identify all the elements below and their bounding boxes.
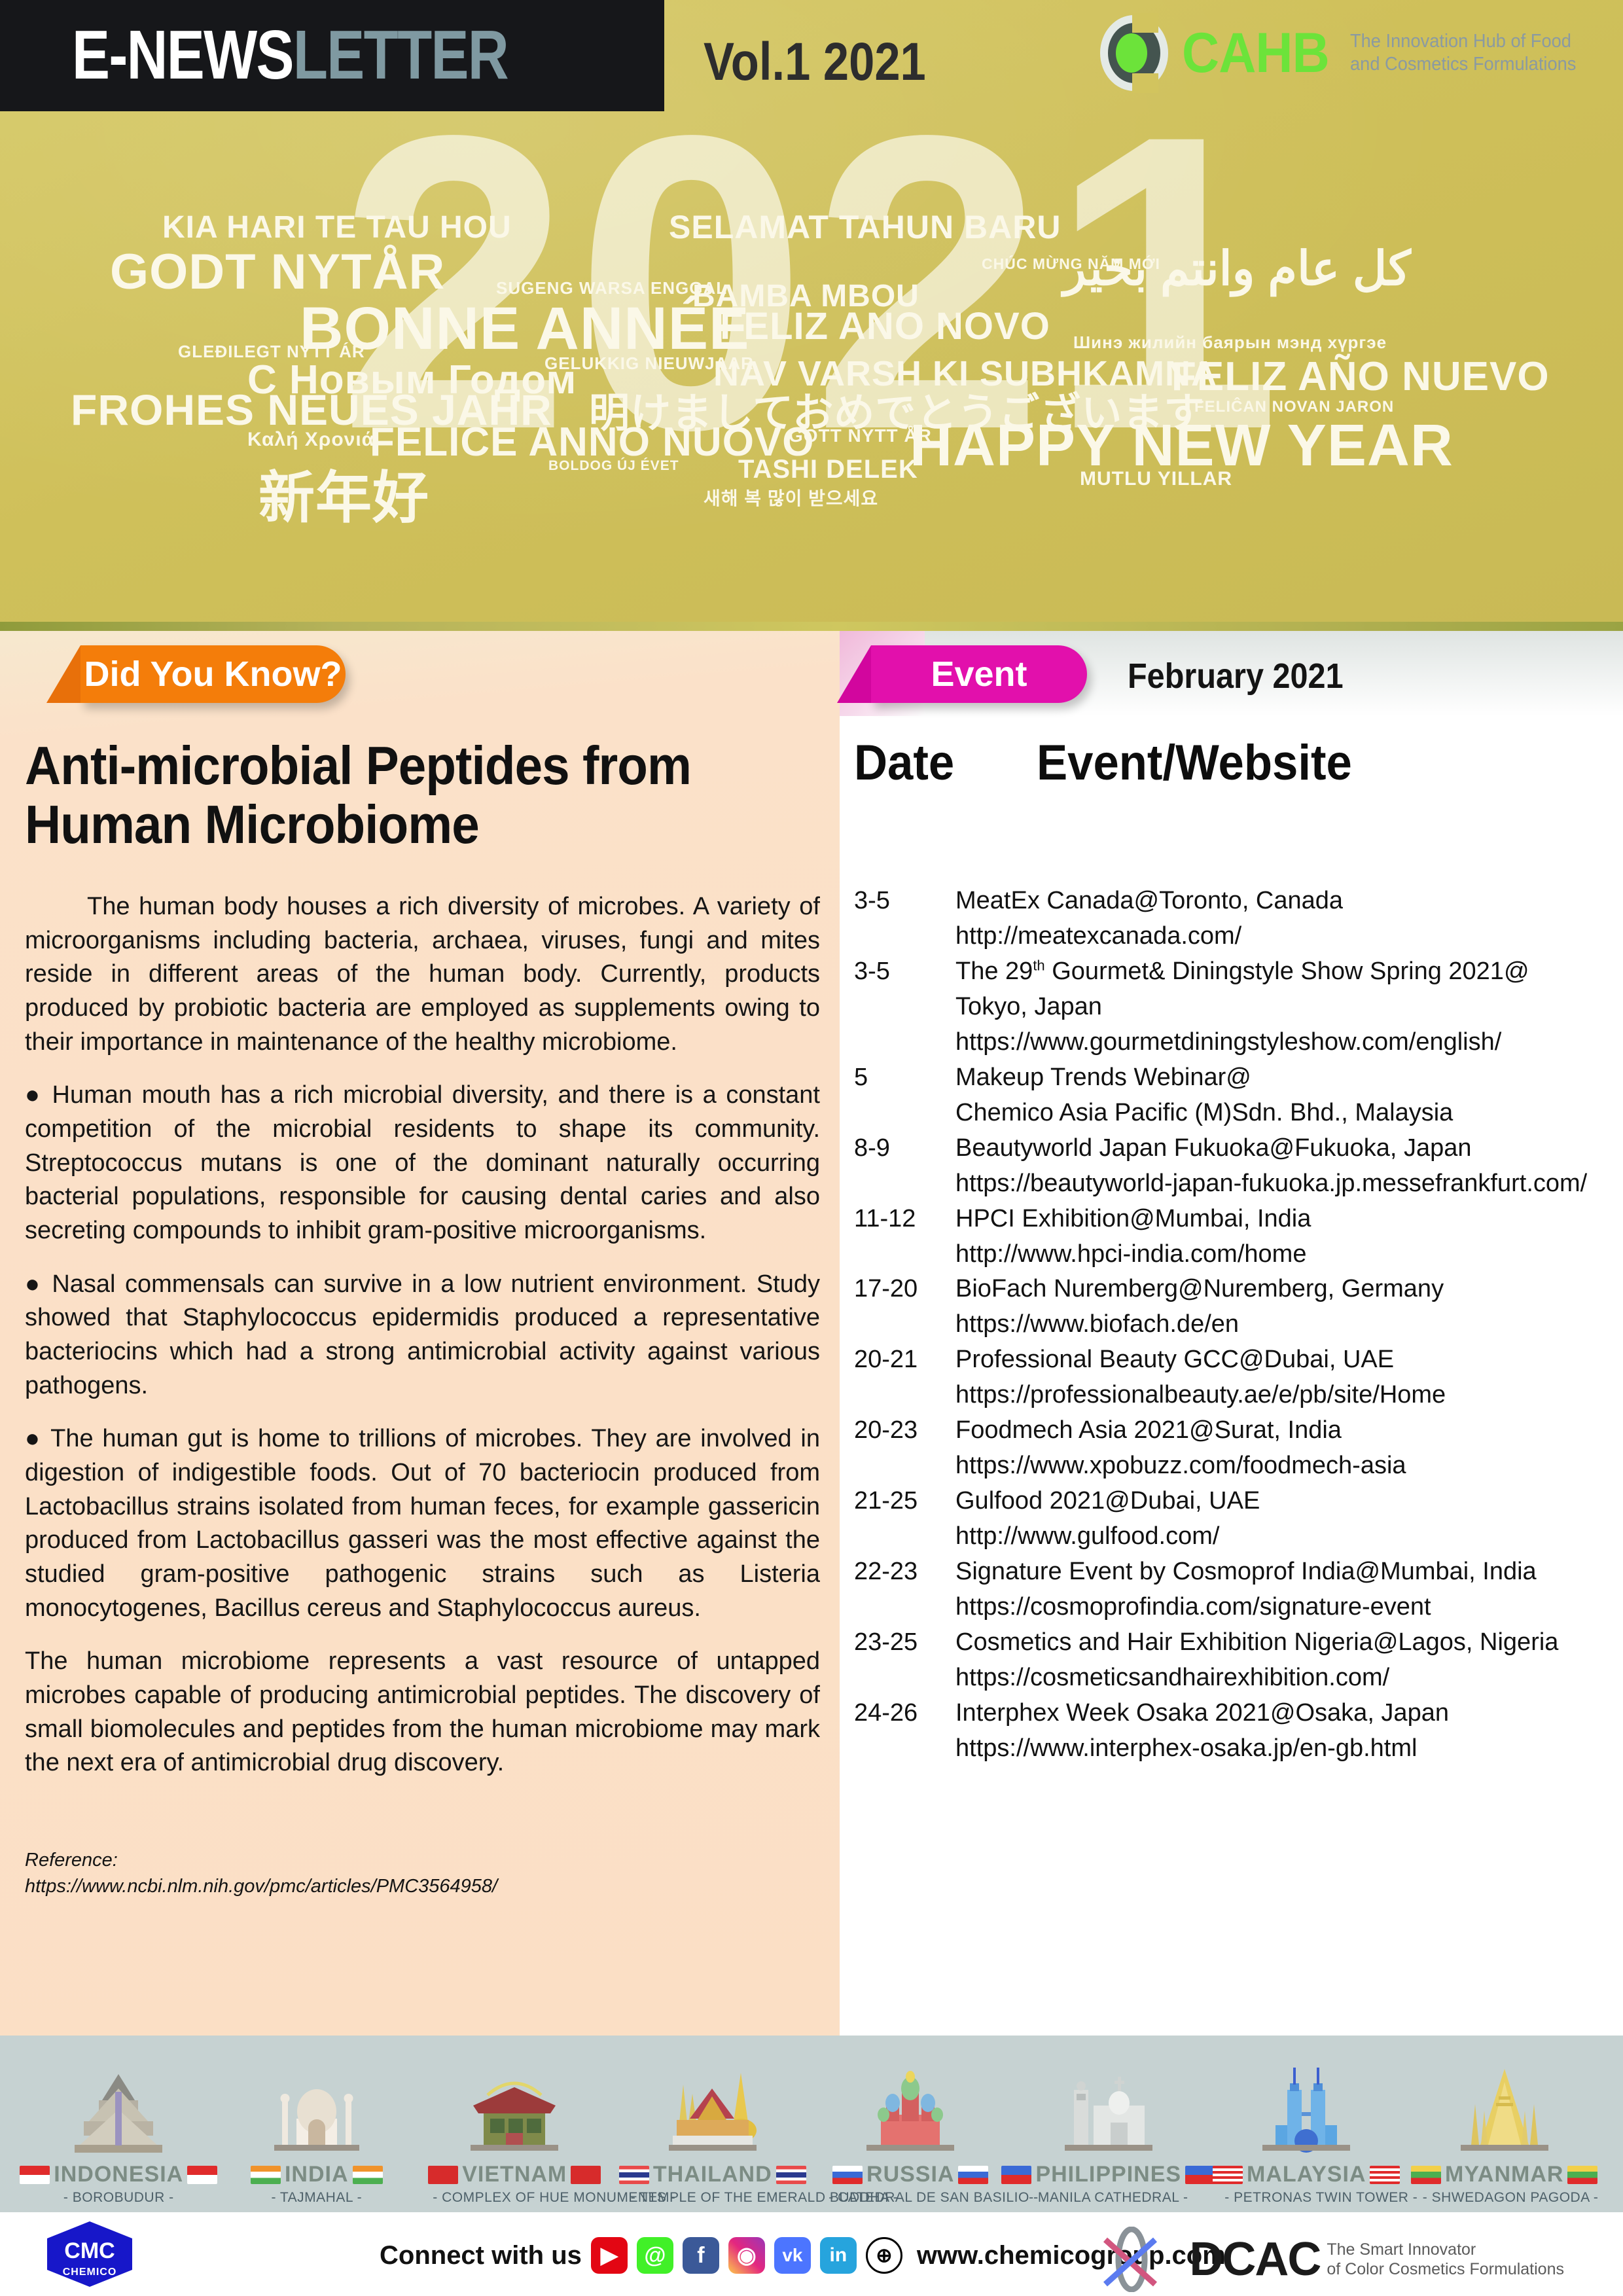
event-date: 8-9 [854,1131,955,1166]
landmark-country-label: THAILAND [653,2162,772,2187]
event-url[interactable]: http://www.hpci-india.com/home [955,1237,1613,1272]
event-name: Chemico Asia Pacific (M)Sdn. Bhd., Malay… [955,1096,1613,1131]
volume-label: Vol.1 2021 [704,31,926,93]
landmark-country: VIETNAM [433,2162,596,2187]
landmark-country-label: INDONESIA [54,2162,183,2187]
event-detail: Cosmetics and Hair Exhibition Nigeria@La… [955,1625,1613,1696]
event-row: 5Makeup Trends Webinar@Chemico Asia Paci… [854,1060,1613,1131]
landmark-monument: - COMPLEX OF HUE MONUMENTS - [433,2190,596,2206]
flag-indonesia [187,2166,217,2184]
event-row: 21-25Gulfood 2021@Dubai, UAEhttp://www.g… [854,1484,1613,1554]
landmark-item: PHILIPPINES- MANILA CATHEDRAL - [1027,2049,1190,2206]
column-header-event: Event/Website [1037,735,1352,791]
greeting-text: Καλή Χρονιά [247,429,374,451]
landmark-monument: - SHWEDAGON PAGODA - [1423,2190,1586,2206]
event-detail: BioFach Nuremberg@Nuremberg, Germanyhttp… [955,1272,1613,1342]
landmark-illustration [1224,2049,1388,2161]
landmark-country-label: RUSSIA [866,2162,954,2187]
title-part-enews: E-NEWS [72,16,293,94]
masthead-banner: 2021 KIA HARI TE TAU HOUSELAMAT TAHUN BA… [0,0,1623,622]
event-detail: Interphex Week Osaka 2021@Osaka, Japanht… [955,1696,1613,1767]
cahb-tagline: The Innovation Hub of Food and Cosmetics… [1350,30,1576,77]
title-part-letter: LETTER [293,16,508,94]
event-row: 11-12HPCI Exhibition@Mumbai, Indiahttp:/… [854,1202,1613,1272]
landmark-illustration [1027,2049,1190,2161]
greeting-text: KIA HARI TE TAU HOU [162,209,512,245]
event-name: BioFach Nuremberg@Nuremberg, Germany [955,1272,1613,1307]
connect-label: Connect with us [380,2241,582,2270]
page-title: E-NEWSLETTER [72,16,508,95]
event-row: 8-9Beautyworld Japan Fukuoka@Fukuoka, Ja… [854,1131,1613,1202]
landmark-illustration [235,2049,399,2161]
event-url[interactable]: https://professionalbeauty.ae/e/pb/site/… [955,1378,1613,1413]
youtube-icon[interactable]: ▶ [591,2237,628,2274]
landmark-country: PHILIPPINES [1027,2162,1190,2187]
flag-indonesia [20,2166,50,2184]
event-name: Tokyo, Japan [955,990,1613,1025]
landmark-monument: - TAJMAHAL - [235,2190,399,2206]
landmark-monument: - TEMPLE OF THE EMERALD BUDDHA - [631,2190,794,2206]
event-detail: Signature Event by Cosmoprof India@Mumba… [955,1554,1613,1625]
event-row: 24-26Interphex Week Osaka 2021@Osaka, Ja… [854,1696,1613,1767]
cahb-wordmark: CAHB [1182,25,1329,81]
event-row: 3-5The 29th Gourmet& Diningstyle Show Sp… [854,954,1613,1060]
reference-url[interactable]: https://www.ncbi.nlm.nih.gov/pmc/article… [25,1873,810,1899]
greeting-text: BOLDOG ÚJ ÉVET [548,458,679,474]
landmark-illustration [37,2049,200,2161]
event-name: MeatEx Canada@Toronto, Canada [955,884,1613,919]
landmark-country-label: PHILIPPINES [1035,2162,1181,2187]
flag-russia [958,2166,988,2184]
landmark-monument: - PETRONAS TWIN TOWER - [1224,2190,1388,2206]
event-url[interactable]: http://meatexcanada.com/ [955,919,1613,954]
event-name: Foodmech Asia 2021@Surat, India [955,1413,1613,1448]
event-url[interactable]: https://www.biofach.de/en [955,1307,1613,1342]
greeting-text: 새해 복 많이 받으세요 [704,484,878,511]
landmark-item: VIETNAM- COMPLEX OF HUE MONUMENTS - [433,2049,596,2206]
greeting-text: MUTLU YILLAR [1080,468,1232,490]
article-paragraph: The human microbiome represents a vast r… [25,1645,820,1780]
flag-vietnam [428,2166,458,2184]
flag-philippines [1001,2166,1031,2184]
landmark-illustration [1423,2049,1586,2161]
event-name: Makeup Trends Webinar@ [955,1060,1613,1096]
landmark-country: THAILAND [631,2162,794,2187]
linkedin-icon[interactable]: in [820,2237,857,2274]
event-detail: The 29th Gourmet& Diningstyle Show Sprin… [955,954,1613,1060]
event-tab[interactable]: Event [871,645,1087,703]
cahb-tagline-line1: The Innovation Hub of Food [1350,30,1576,53]
cahb-tagline-line2: and Cosmetics Formulations [1350,53,1576,76]
event-row: 22-23Signature Event by Cosmoprof India@… [854,1554,1613,1625]
landmark-item: MALAYSIA- PETRONAS TWIN TOWER - [1224,2049,1388,2206]
landmark-monument: - MANILA CATHEDRAL - [1027,2190,1190,2206]
event-name: The 29th Gourmet& Diningstyle Show Sprin… [955,954,1613,990]
landmark-strip: INDONESIA- BOROBUDUR -INDIA- TAJMAHAL -V… [0,2036,1623,2212]
dcac-logo: DCAC The Smart Innovator of Color Cosmet… [1084,2227,1564,2292]
event-name: Signature Event by Cosmoprof India@Mumba… [955,1554,1613,1590]
article-paragraph: ● Human mouth has a rich microbial diver… [25,1079,820,1247]
landmark-monument: - CATEDRAL DE SAN BASILIO - [829,2190,992,2206]
event-table-header: DateEvent/Website [854,734,1352,791]
event-name: HPCI Exhibition@Mumbai, India [955,1202,1613,1237]
flag-vietnam [571,2166,601,2184]
greeting-text: GODT NYTÅR [110,243,445,300]
landmark-item: MYANMAR- SHWEDAGON PAGODA - [1423,2049,1586,2206]
dcac-mark-icon [1084,2227,1183,2292]
landmark-item: INDIA- TAJMAHAL - [235,2049,399,2206]
article-title: Anti-microbial Peptides from Human Micro… [25,736,747,853]
landmark-country: INDONESIA [37,2162,200,2187]
event-url[interactable]: https://www.interphex-osaka.jp/en-gb.htm… [955,1731,1613,1767]
event-date: 5 [854,1060,955,1096]
event-detail: HPCI Exhibition@Mumbai, Indiahttp://www.… [955,1202,1613,1272]
article-paragraph: ● Nasal commensals can survive in a low … [25,1268,820,1403]
flag-thailand [619,2166,649,2184]
landmark-country: INDIA [235,2162,399,2187]
event-detail: Gulfood 2021@Dubai, UAEhttp://www.gulfoo… [955,1484,1613,1554]
event-list: 3-5MeatEx Canada@Toronto, Canadahttp://m… [854,884,1613,1767]
landmark-country-label: MALAYSIA [1247,2162,1366,2187]
event-date: 22-23 [854,1554,955,1590]
event-name: Beautyworld Japan Fukuoka@Fukuoka, Japan [955,1131,1613,1166]
did-you-know-column: Did You Know? Anti-microbial Peptides fr… [0,622,840,2036]
event-detail: Foodmech Asia 2021@Surat, Indiahttps://w… [955,1413,1613,1484]
facebook-icon[interactable]: f [683,2237,719,2274]
event-detail: MeatEx Canada@Toronto, Canadahttp://meat… [955,884,1613,954]
greeting-text: SELAMAT TAHUN BARU [669,208,1061,246]
dcac-tagline-line2: of Color Cosmetics Formulations [1327,2259,1564,2279]
event-name: Cosmetics and Hair Exhibition Nigeria@La… [955,1625,1613,1660]
landmark-illustration [829,2049,992,2161]
event-detail: Beautyworld Japan Fukuoka@Fukuoka, Japan… [955,1131,1613,1202]
event-url[interactable]: https://www.gourmetdiningstyleshow.com/e… [955,1025,1613,1060]
dcac-tagline-line1: The Smart Innovator [1327,2240,1564,2259]
dcac-wordmark: DCAC [1189,2233,1320,2286]
event-date: 23-25 [854,1625,955,1660]
article-paragraph: ● The human gut is home to trillions of … [25,1422,820,1625]
landmark-item: INDONESIA- BOROBUDUR - [37,2049,200,2206]
landmark-country: MALAYSIA [1224,2162,1388,2187]
event-detail: Makeup Trends Webinar@Chemico Asia Pacif… [955,1060,1613,1131]
greeting-text: FELIZ ANO NOVO [720,304,1050,348]
footer-bar: CMC CHEMICO Connect with us ▶ @ f ◉ vk i… [0,2212,1623,2296]
vk-icon[interactable]: vk [774,2237,811,2274]
event-row: 3-5MeatEx Canada@Toronto, Canadahttp://m… [854,884,1613,954]
globe-icon[interactable]: ⊕ [866,2237,902,2274]
landmark-country: MYANMAR [1423,2162,1586,2187]
flag-myanmar [1567,2166,1597,2184]
column-header-date: Date [854,734,1037,791]
instagram-icon[interactable]: ◉ [728,2237,765,2274]
svg-text:CHEMICO: CHEMICO [63,2267,117,2278]
event-date: 17-20 [854,1272,955,1307]
cahb-circle-icon [1094,13,1174,93]
flag-thailand [776,2166,806,2184]
flag-malaysia [1213,2166,1243,2184]
event-date: 11-12 [854,1202,955,1237]
flag-russia [832,2166,863,2184]
event-url[interactable]: https://www.xpobuzz.com/foodmech-asia [955,1448,1613,1484]
svg-text:CMC: CMC [64,2238,115,2263]
event-column: Event February 2021 DateEvent/Website 3-… [840,622,1623,2036]
landmark-country-label: MYANMAR [1445,2162,1563,2187]
landmark-country-label: VIETNAM [462,2162,567,2187]
greeting-text: Шинэ жилийн баярын мэнд хүргэе [1073,332,1387,353]
landmark-item: RUSSIA- CATEDRAL DE SAN BASILIO - [829,2049,992,2206]
event-month-label: February 2021 [1128,656,1344,696]
landmark-country-label: INDIA [285,2162,349,2187]
event-date: 24-26 [854,1696,955,1731]
flag-philippines [1185,2166,1215,2184]
event-url[interactable]: https://cosmoprofindia.com/signature-eve… [955,1590,1613,1625]
reference-block: Reference: https://www.ncbi.nlm.nih.gov/… [25,1847,810,1899]
landmark-illustration [631,2049,794,2161]
flag-india [251,2166,281,2184]
landmark-monument: - BOROBUDUR - [37,2190,200,2206]
cahb-logo: CAHB The Innovation Hub of Food and Cosm… [1094,13,1590,93]
event-name: Gulfood 2021@Dubai, UAE [955,1484,1613,1519]
article-body: The human body houses a rich diversity o… [25,890,820,1800]
landmark-country: RUSSIA [829,2162,992,2187]
event-url[interactable]: https://beautyworld-japan-fukuoka.jp.mes… [955,1166,1613,1202]
event-name: Interphex Week Osaka 2021@Osaka, Japan [955,1696,1613,1731]
event-url[interactable]: https://cosmeticsandhairexhibition.com/ [955,1660,1613,1696]
event-date: 21-25 [854,1484,955,1519]
flag-malaysia [1370,2166,1400,2184]
content-area: Did You Know? Anti-microbial Peptides fr… [0,622,1623,2036]
event-name: Professional Beauty GCC@Dubai, UAE [955,1342,1613,1378]
event-row: 23-25Cosmetics and Hair Exhibition Niger… [854,1625,1613,1696]
did-you-know-tab[interactable]: Did You Know? [80,645,346,703]
event-date: 3-5 [854,884,955,919]
article-paragraph: The human body houses a rich diversity o… [25,890,820,1059]
flag-myanmar [1411,2166,1441,2184]
greeting-text: 新年好 [259,452,429,533]
event-date: 3-5 [854,954,955,990]
landmark-item: THAILAND- TEMPLE OF THE EMERALD BUDDHA - [631,2049,794,2206]
event-row: 20-23Foodmech Asia 2021@Surat, Indiahttp… [854,1413,1613,1484]
event-row: 17-20BioFach Nuremberg@Nuremberg, German… [854,1272,1613,1342]
chemico-logo: CMC CHEMICO [41,2220,139,2288]
greeting-text: كل عام وانتم بخير [1063,241,1411,296]
event-url[interactable]: http://www.gulfood.com/ [955,1519,1613,1554]
event-detail: Professional Beauty GCC@Dubai, UAEhttps:… [955,1342,1613,1413]
event-row: 20-21Professional Beauty GCC@Dubai, UAEh… [854,1342,1613,1413]
greeting-text: FELIZ AÑO NUEVO [1171,353,1550,400]
reference-label: Reference: [25,1847,810,1873]
event-date: 20-21 [854,1342,955,1378]
email-icon[interactable]: @ [637,2237,673,2274]
event-date: 20-23 [854,1413,955,1448]
dcac-tagline: The Smart Innovator of Color Cosmetics F… [1327,2240,1564,2279]
newsletter-title-block: E-NEWSLETTER [0,0,664,111]
flag-india [353,2166,383,2184]
landmark-illustration [433,2049,596,2161]
greeting-text: TASHI DELEK [738,455,918,484]
